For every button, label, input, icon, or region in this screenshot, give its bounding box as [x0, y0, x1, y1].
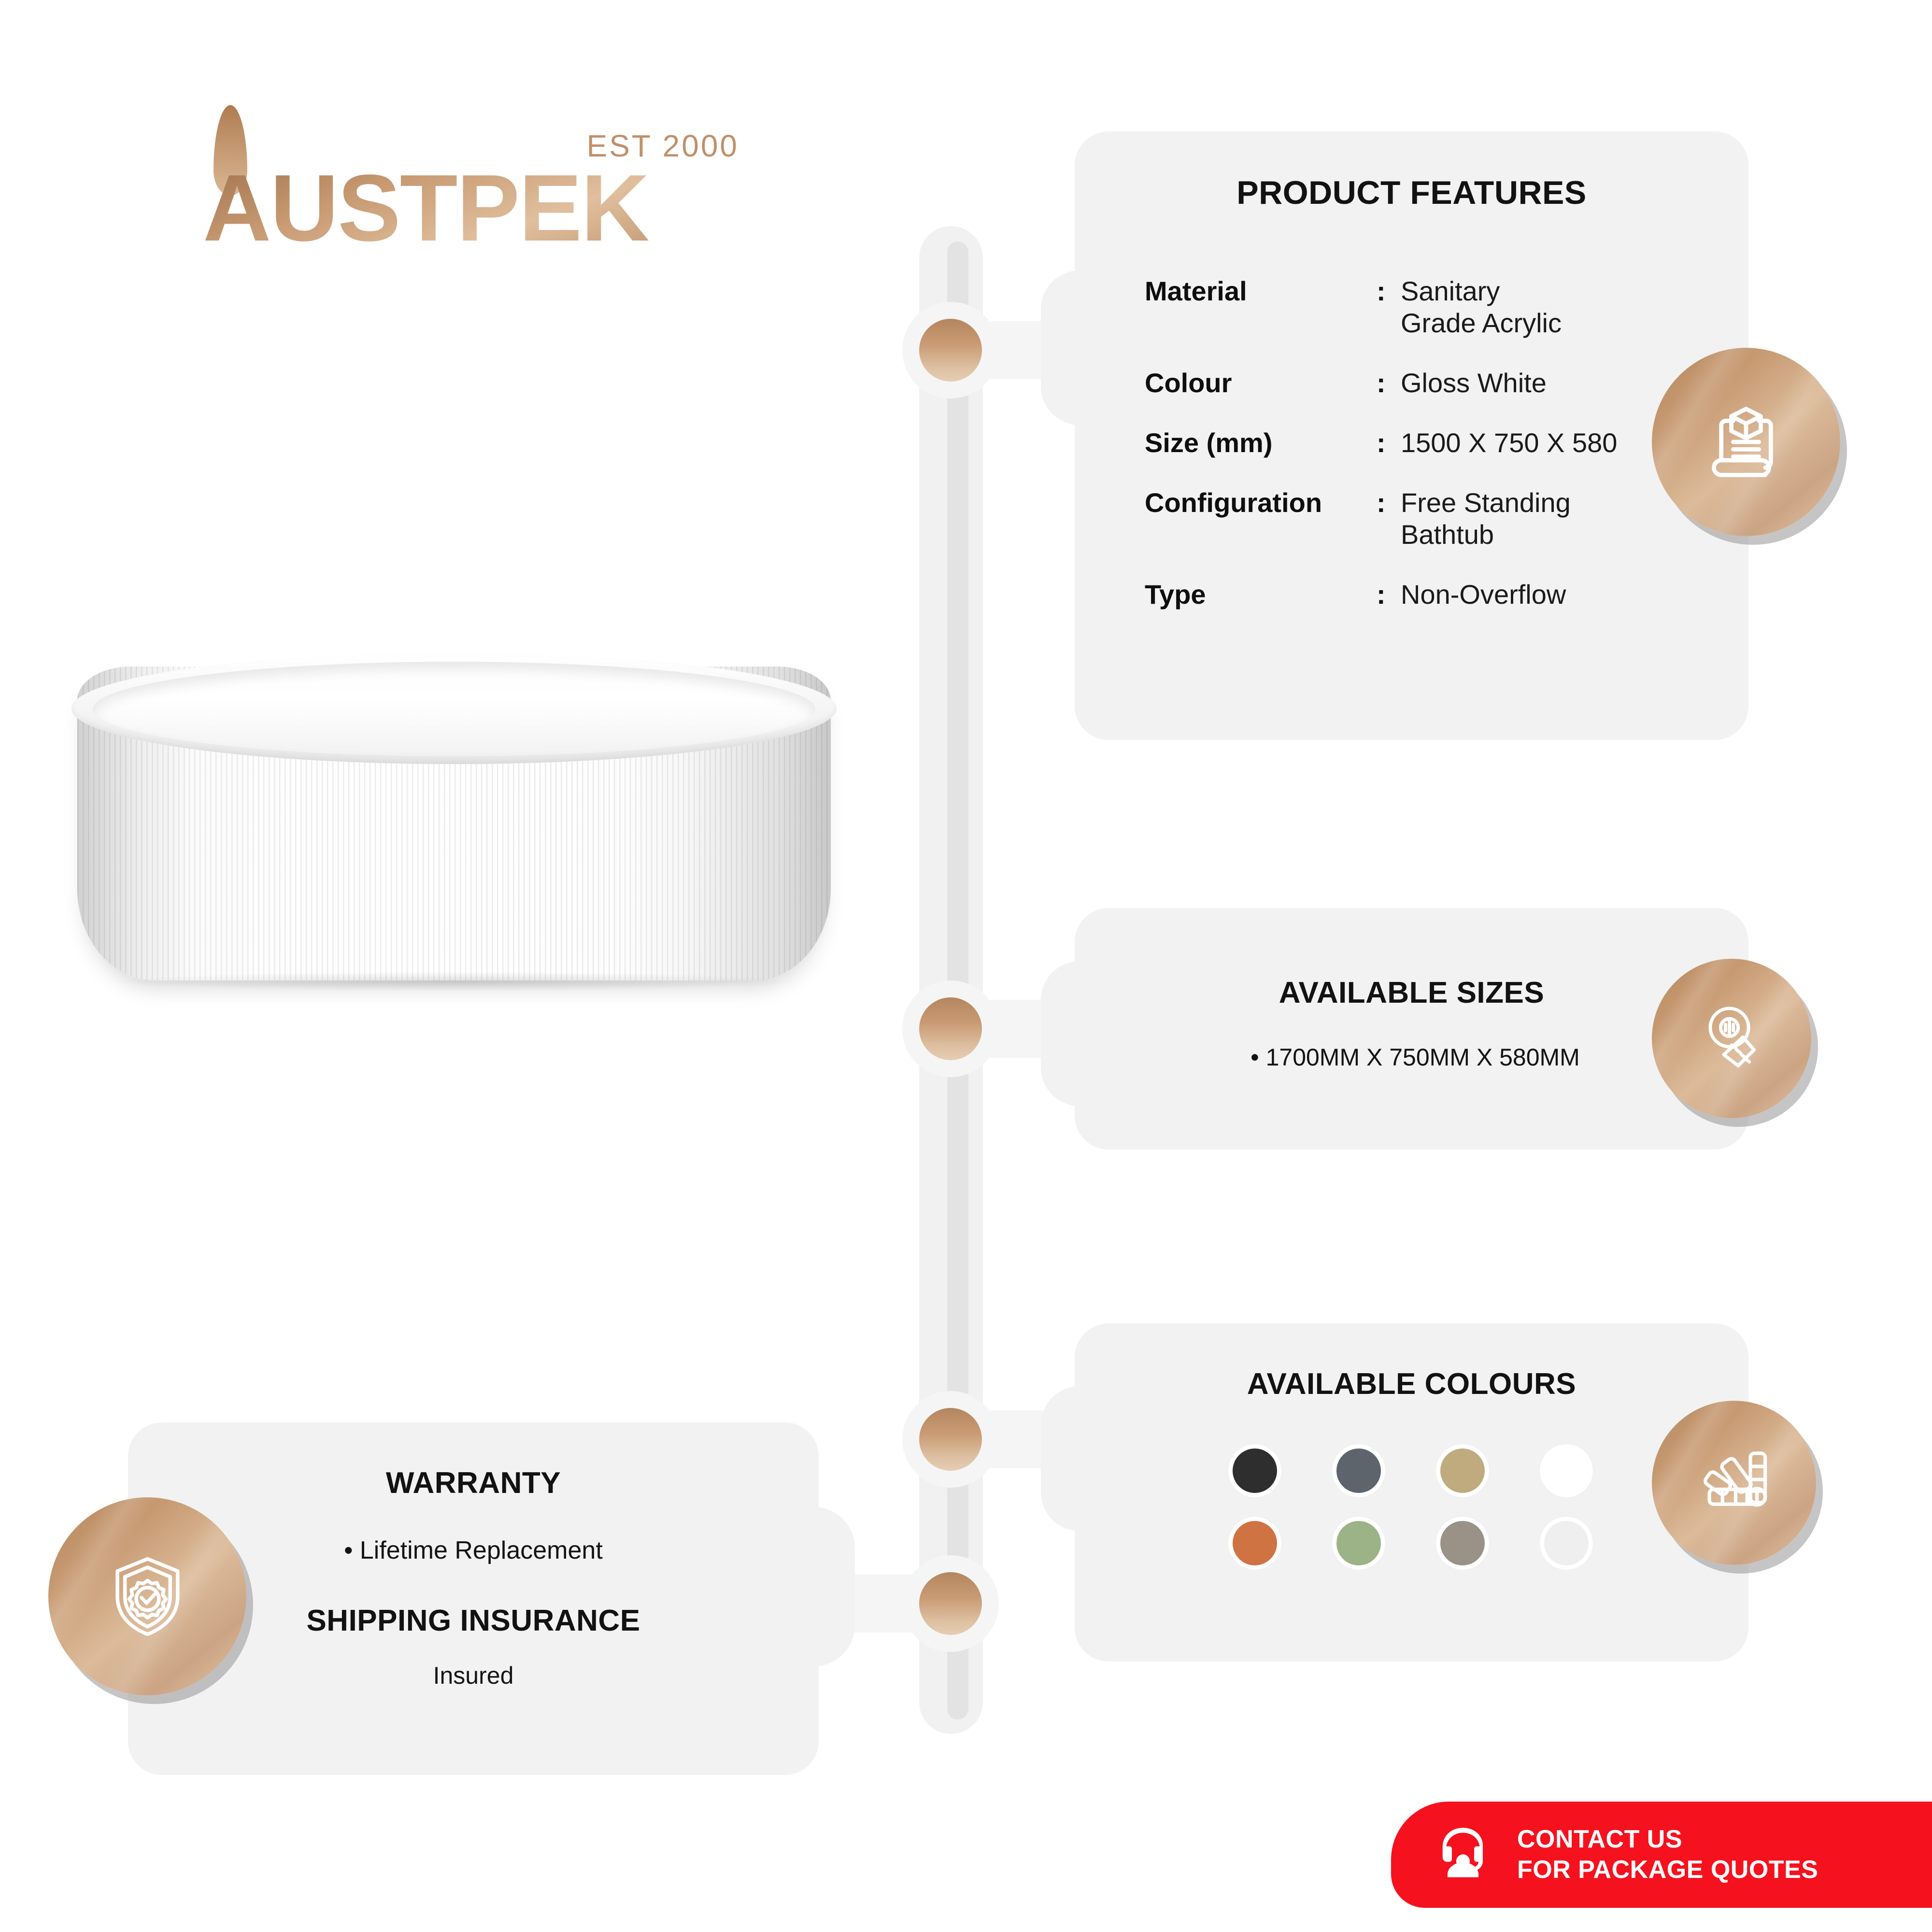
spec-row: Configuration : Free Standing Bathtub	[1145, 487, 1734, 551]
measuring-tape-icon	[1652, 959, 1811, 1118]
timeline-node-dot	[919, 1408, 982, 1471]
spec-row: Type : Non-Overflow	[1145, 579, 1734, 611]
colour-swatch-grid	[1203, 1444, 1618, 1570]
warranty-title: WARRANTY	[128, 1466, 819, 1500]
colours-card-title: AVAILABLE COLOURS	[1075, 1367, 1748, 1401]
spec-row: Size (mm) : 1500 X 750 X 580	[1145, 427, 1734, 459]
colour-swatch-fan-icon	[1652, 1401, 1816, 1565]
features-spec-table: Material : Sanitary Grade Acrylic Colour…	[1145, 275, 1734, 639]
bathtub-basin	[93, 662, 815, 756]
colour-swatch-off-white[interactable]	[1540, 1517, 1593, 1570]
timeline-node-features[interactable]	[902, 302, 999, 398]
product-image-bathtub	[63, 642, 845, 995]
shipping-insurance-value: Insured	[128, 1662, 819, 1690]
spec-row: Material : Sanitary Grade Acrylic	[1145, 275, 1734, 339]
features-card-title: PRODUCT FEATURES	[1075, 174, 1748, 212]
colour-swatch-gloss-white[interactable]	[1540, 1444, 1593, 1497]
available-sizes-card	[1075, 908, 1748, 1150]
timeline-node-sizes[interactable]	[902, 980, 999, 1077]
timeline-node-colours[interactable]	[902, 1391, 999, 1488]
brand-name: AUSTPEK	[203, 161, 649, 256]
timeline-node-dot	[919, 997, 982, 1060]
contact-line-2: FOR PACKAGE QUOTES	[1517, 1855, 1818, 1885]
warranty-list: Lifetime Replacement	[208, 1536, 739, 1565]
spec-separator: :	[1377, 487, 1401, 551]
bathtub-shadow	[116, 972, 792, 991]
colour-swatch-sage-green[interactable]	[1332, 1517, 1385, 1570]
colour-swatch-khaki-tan[interactable]	[1436, 1444, 1489, 1497]
spec-separator: :	[1377, 579, 1401, 611]
spec-row: Colour : Gloss White	[1145, 367, 1734, 399]
headset-support-icon	[1432, 1823, 1494, 1887]
timeline-node-dot	[919, 1572, 982, 1635]
spec-separator: :	[1377, 367, 1401, 399]
spec-separator: :	[1377, 275, 1401, 339]
timeline-node-dot	[919, 319, 982, 382]
contact-line-1: CONTACT US	[1517, 1824, 1818, 1855]
list-item: 1700MM X 750MM X 580MM	[1111, 1043, 1719, 1071]
spec-value: Non-Overflow	[1401, 579, 1734, 611]
colour-swatch-matte-black[interactable]	[1228, 1444, 1281, 1497]
contact-us-text: CONTACT US FOR PACKAGE QUOTES	[1517, 1824, 1818, 1886]
spec-separator: :	[1377, 427, 1401, 459]
spec-label: Size (mm)	[1145, 427, 1377, 459]
spec-label: Type	[1145, 579, 1377, 611]
product-spec-document-icon	[1652, 348, 1840, 536]
spec-value: Sanitary Grade Acrylic	[1401, 275, 1734, 339]
contact-us-badge[interactable]: CONTACT US FOR PACKAGE QUOTES	[1391, 1802, 1932, 1908]
shield-badge-icon	[48, 1497, 246, 1695]
colour-swatch-slate-grey[interactable]	[1332, 1444, 1385, 1497]
spec-label: Configuration	[1145, 487, 1377, 551]
list-item: Lifetime Replacement	[208, 1536, 739, 1565]
spec-label: Colour	[1145, 367, 1377, 399]
spec-label: Material	[1145, 275, 1377, 339]
colour-swatch-warm-grey[interactable]	[1436, 1517, 1489, 1570]
sizes-list: 1700MM X 750MM X 580MM	[1111, 1043, 1719, 1071]
brand-logo: EST 2000 AUSTPEK	[203, 123, 744, 273]
sizes-card-title: AVAILABLE SIZES	[1075, 976, 1748, 1010]
timeline-node-warranty[interactable]	[902, 1555, 999, 1652]
colour-swatch-terracotta[interactable]	[1228, 1517, 1281, 1570]
